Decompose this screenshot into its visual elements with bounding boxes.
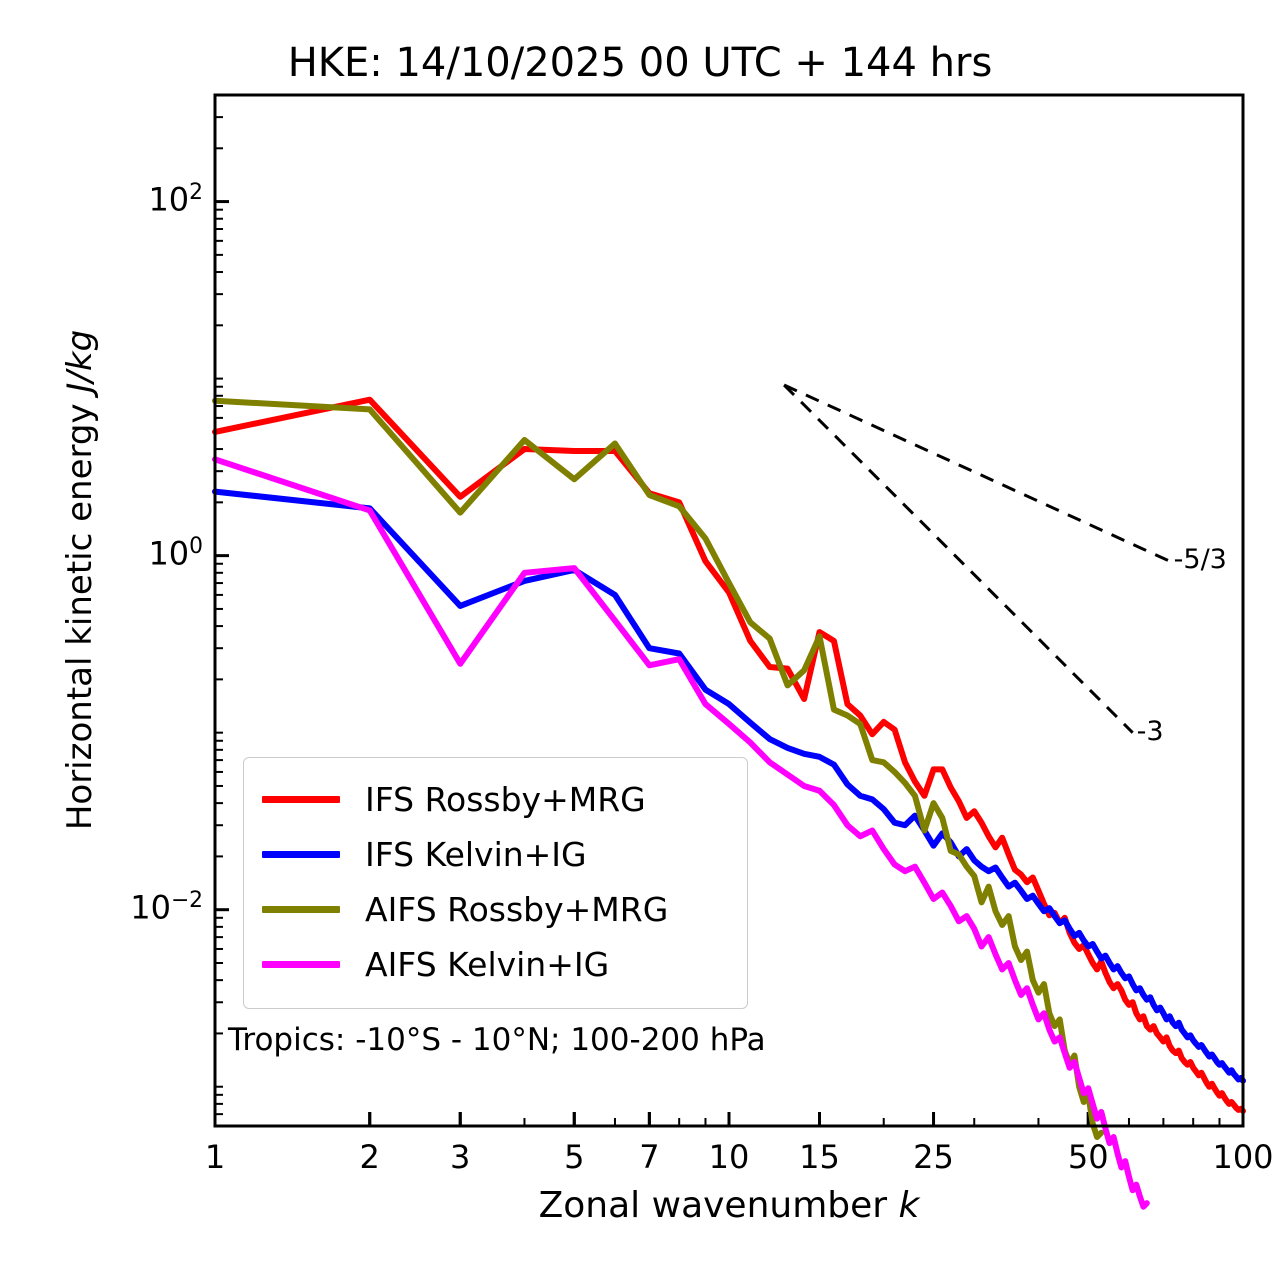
chart-legend: IFS Rossby+MRG IFS Kelvin+IG AIFS Rossby… <box>243 757 748 1009</box>
legend-label-aifs-kelvin-ig: AIFS Kelvin+IG <box>365 948 609 981</box>
legend-label-aifs-rossby-mrg: AIFS Rossby+MRG <box>365 893 668 926</box>
legend-swatch-aifs-kelvin-ig <box>262 961 340 968</box>
reference-line <box>784 385 1133 733</box>
x-tick-label: 15 <box>760 1138 880 1176</box>
reference-line <box>784 385 1170 561</box>
legend-item[interactable]: AIFS Rossby+MRG <box>244 882 747 937</box>
legend-swatch-ifs-kelvin-ig <box>262 851 340 858</box>
x-tick-label: 100 <box>1183 1138 1280 1176</box>
y-tick-mantissa: 10 <box>148 534 189 572</box>
y-tick-label: 100 <box>3 534 203 573</box>
x-tick-label: 50 <box>1028 1138 1148 1176</box>
legend-item[interactable]: IFS Kelvin+IG <box>244 827 747 882</box>
y-tick-label: 102 <box>3 180 203 219</box>
x-tick-label: 25 <box>874 1138 994 1176</box>
region-annotation: Tropics: -10°S - 10°N; 100-200 hPa <box>228 1022 766 1058</box>
y-tick-exponent: 2 <box>189 180 203 205</box>
x-tick-label: 1 <box>155 1138 275 1176</box>
slope-label: -3 <box>1137 716 1164 747</box>
chart-figure: HKE: 14/10/2025 00 UTC + 144 hrs Horizon… <box>0 0 1280 1288</box>
y-tick-exponent: 0 <box>189 534 203 559</box>
legend-swatch-ifs-rossby-mrg <box>262 796 340 803</box>
legend-item[interactable]: AIFS Kelvin+IG <box>244 937 747 992</box>
slope-label: -5/3 <box>1174 544 1227 575</box>
x-tick-label: 3 <box>400 1138 520 1176</box>
y-tick-mantissa: 10 <box>130 888 171 926</box>
y-tick-mantissa: 10 <box>148 180 189 218</box>
y-tick-label: 10−2 <box>3 888 203 927</box>
legend-label-ifs-kelvin-ig: IFS Kelvin+IG <box>365 838 587 871</box>
legend-item[interactable]: IFS Rossby+MRG <box>244 772 747 827</box>
legend-swatch-aifs-rossby-mrg <box>262 906 340 913</box>
legend-label-ifs-rossby-mrg: IFS Rossby+MRG <box>365 783 646 816</box>
y-tick-exponent: −2 <box>171 888 203 913</box>
